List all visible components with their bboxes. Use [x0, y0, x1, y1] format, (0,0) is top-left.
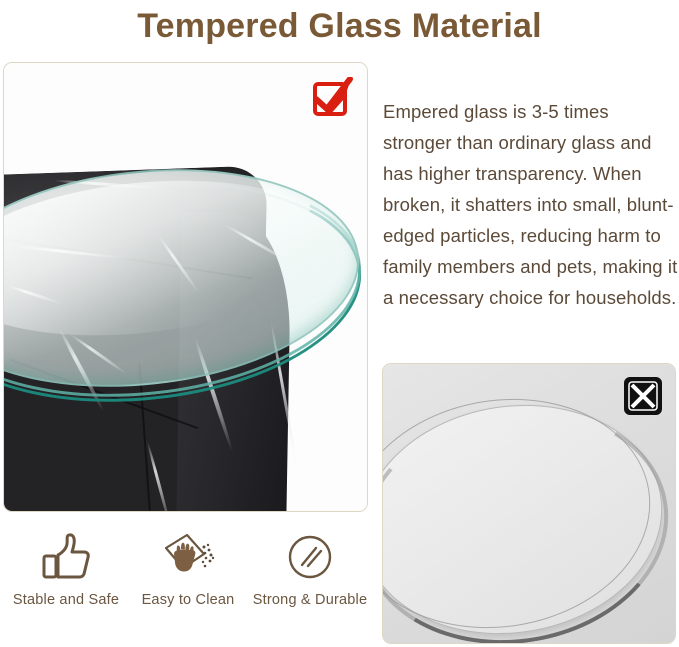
- ordinary-glass-photo-panel: [382, 363, 676, 644]
- description-paragraph: Empered glass is 3-5 times stronger than…: [383, 96, 679, 313]
- check-badge-icon: [311, 77, 355, 121]
- feature-easy-to-clean: Easy to Clean: [128, 528, 248, 608]
- scratch-circle-icon: [285, 532, 335, 582]
- feature-label: Stable and Safe: [6, 592, 126, 608]
- cross-badge-icon: [623, 376, 663, 416]
- glass-tabletop: [3, 149, 368, 407]
- feature-row: Stable and Safe: [0, 528, 376, 608]
- main-product-photo-panel: [3, 62, 368, 512]
- feature-stable-and-safe: Stable and Safe: [6, 528, 126, 608]
- feature-label: Easy to Clean: [128, 592, 248, 608]
- hand-wipe-icon: [159, 532, 217, 582]
- page-title: Tempered Glass Material: [0, 4, 679, 48]
- tempered-glass-table-photo: [4, 63, 367, 511]
- thumbs-up-icon: [39, 532, 93, 582]
- glass-disc: [382, 384, 676, 644]
- feature-label: Strong & Durable: [250, 592, 370, 608]
- feature-strong-and-durable: Strong & Durable: [250, 528, 370, 608]
